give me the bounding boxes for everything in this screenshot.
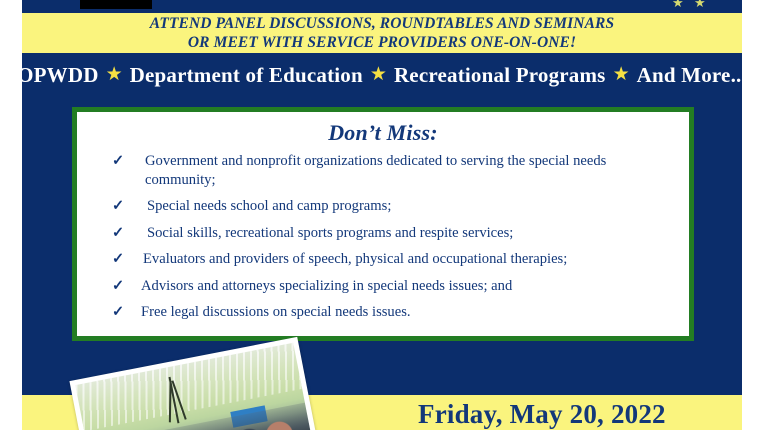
- list-item-label: Government and nonprofit organizations d…: [145, 153, 606, 188]
- list-item-label: Special needs school and camp programs;: [147, 198, 391, 214]
- partner-item-department-of-education: Department of Education: [130, 63, 363, 88]
- list-item: ✓ Special needs school and camp programs…: [139, 197, 665, 216]
- dont-miss-list: ✓ Government and nonprofit organizations…: [77, 152, 689, 322]
- check-icon: ✓: [112, 277, 124, 296]
- flyer-canvas: ★ ★ ATTEND PANEL DISCUSSIONS, ROUNDTABLE…: [0, 0, 765, 430]
- check-icon: ✓: [112, 152, 124, 171]
- headline-line-1: ATTEND PANEL DISCUSSIONS, ROUNDTABLES AN…: [150, 14, 614, 33]
- list-item: ✓ Government and nonprofit organizations…: [139, 152, 665, 189]
- list-item: ✓ Free legal discussions on special need…: [139, 303, 665, 322]
- dont-miss-title: Don’t Miss:: [77, 120, 689, 146]
- check-icon: ✓: [112, 250, 124, 269]
- partner-item-opwdd: OPWDD: [17, 63, 99, 88]
- list-item-label: Evaluators and providers of speech, phys…: [143, 251, 567, 267]
- list-item-label: Advisors and attorneys specializing in s…: [141, 278, 512, 294]
- partner-item-and-more: And More...: [637, 63, 747, 88]
- dont-miss-panel: Don’t Miss: ✓ Government and nonprofit o…: [72, 107, 694, 341]
- list-item-label: Social skills, recreational sports progr…: [147, 225, 513, 241]
- decorative-star-icon: ★: [694, 0, 706, 9]
- list-item: ✓ Evaluators and providers of speech, ph…: [139, 250, 665, 269]
- headline-line-2: OR MEET WITH SERVICE PROVIDERS ONE-ON-ON…: [188, 33, 576, 52]
- decorative-star-icon: ★: [672, 0, 684, 9]
- star-icon: ★: [613, 63, 630, 86]
- top-black-redaction-block: [80, 0, 152, 9]
- star-icon: ★: [106, 63, 123, 86]
- list-item: ✓ Social skills, recreational sports pro…: [139, 224, 665, 243]
- star-icon: ★: [370, 63, 387, 86]
- check-icon: ✓: [112, 303, 124, 322]
- list-item: ✓ Advisors and attorneys specializing in…: [139, 277, 665, 296]
- headline-banner: ATTEND PANEL DISCUSSIONS, ROUNDTABLES AN…: [22, 13, 742, 53]
- check-icon: ✓: [112, 224, 124, 243]
- event-date: Friday, May 20, 2022: [418, 399, 666, 430]
- list-item-label: Free legal discussions on special needs …: [141, 304, 411, 320]
- check-icon: ✓: [112, 197, 124, 216]
- partners-list: OPWDD ★ Department of Education ★ Recrea…: [22, 58, 742, 92]
- partner-item-recreational-programs: Recreational Programs: [394, 63, 606, 88]
